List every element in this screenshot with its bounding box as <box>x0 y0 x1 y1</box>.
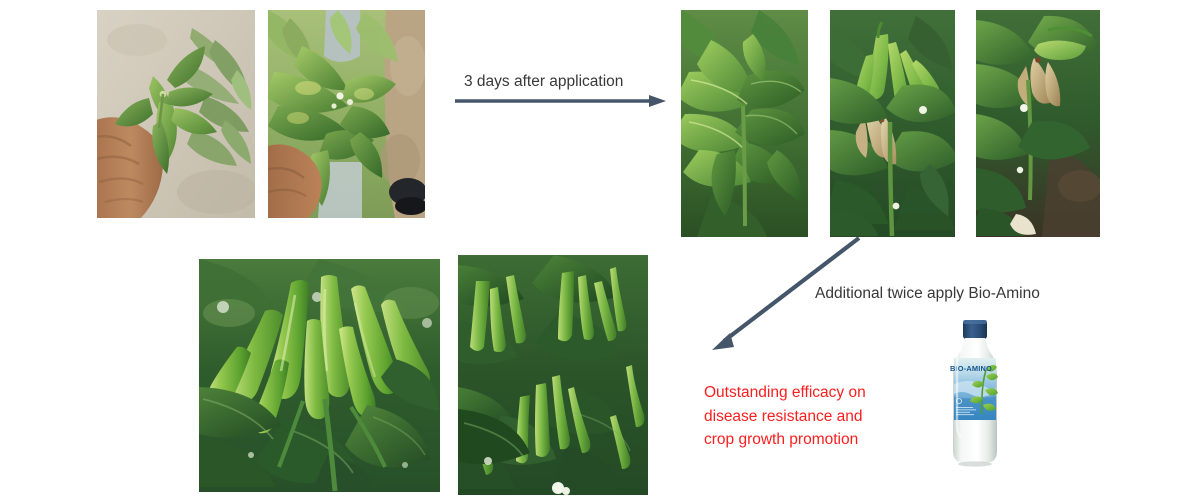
product-bottle: BIO-AMINO <box>946 318 1004 468</box>
photo-before-1 <box>97 10 255 218</box>
photo-after-1 <box>681 10 808 237</box>
result-headline-line-1: Outstanding efficacy on <box>704 381 934 405</box>
step1-caption: 3 days after application <box>464 72 623 93</box>
photo-after-2 <box>830 10 955 237</box>
result-headline: Outstanding efficacy on disease resistan… <box>704 381 934 452</box>
photo-before-2 <box>268 10 425 218</box>
result-headline-line-2: disease resistance and <box>704 405 934 429</box>
photo-result-2 <box>458 255 648 495</box>
slide-canvas: 3 days after application Additional twic… <box>0 0 1200 500</box>
horizontal-progress-arrow <box>455 95 666 107</box>
step2-caption: Additional twice apply Bio-Amino <box>815 284 1040 305</box>
result-headline-line-3: crop growth promotion <box>704 428 934 452</box>
photo-result-1 <box>199 259 440 492</box>
photo-after-3 <box>976 10 1100 237</box>
